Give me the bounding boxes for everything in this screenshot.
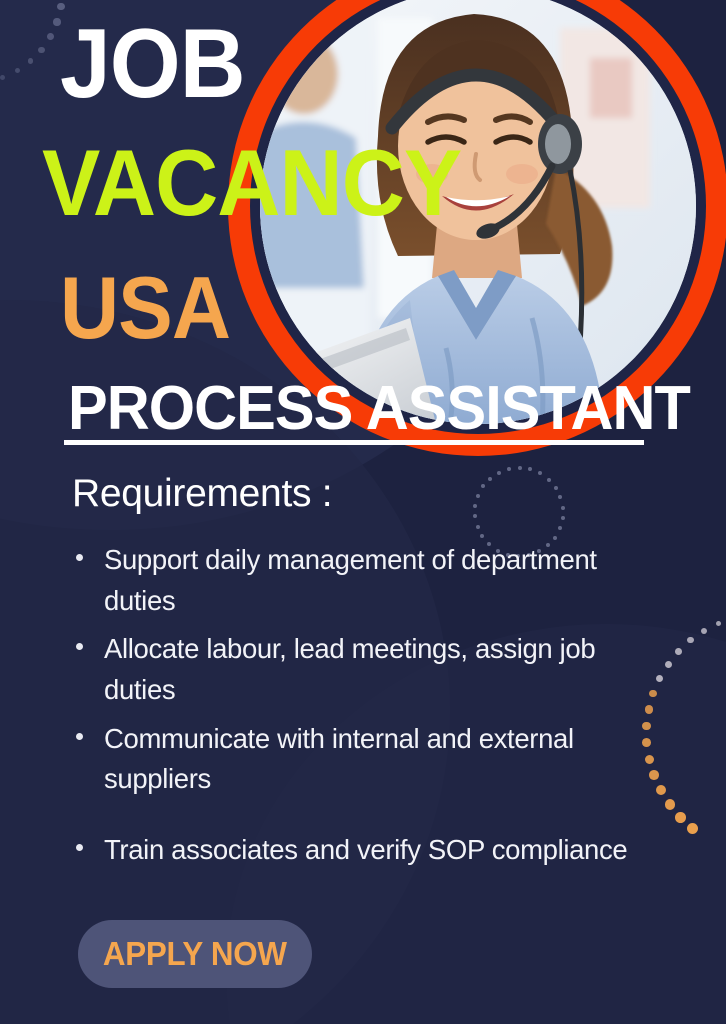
decorative-dot bbox=[558, 526, 562, 530]
decorative-dot bbox=[518, 466, 522, 470]
list-item-label: Train associates and verify SOP complian… bbox=[104, 834, 627, 865]
decorative-dot bbox=[687, 637, 693, 643]
decorative-dot bbox=[38, 47, 44, 53]
headline-job: JOB bbox=[60, 18, 245, 108]
decorative-dot bbox=[558, 495, 562, 499]
decorative-dot bbox=[47, 33, 54, 40]
decorative-dot bbox=[716, 621, 722, 627]
bullet-icon bbox=[76, 844, 83, 851]
decorative-dot bbox=[476, 525, 480, 529]
apply-now-label: APPLY NOW bbox=[103, 935, 287, 973]
list-item: Train associates and verify SOP complian… bbox=[70, 830, 650, 871]
decorative-dot bbox=[488, 477, 492, 481]
decorative-dot bbox=[476, 494, 480, 498]
decorative-dot bbox=[665, 799, 675, 809]
decorative-dot bbox=[538, 471, 542, 475]
role-underline bbox=[64, 440, 644, 445]
job-vacancy-poster: JOB VACANCY USA PROCESS ASSISTANT Requir… bbox=[0, 0, 726, 1024]
list-item-label: Support daily management of department d… bbox=[104, 544, 597, 616]
list-item-label: Communicate with internal and external s… bbox=[104, 723, 574, 795]
apply-now-button[interactable]: APPLY NOW bbox=[78, 920, 312, 988]
bullet-icon bbox=[76, 733, 83, 740]
decorative-dot bbox=[701, 628, 707, 634]
requirements-list: Support daily management of department d… bbox=[70, 540, 650, 879]
decorative-dot bbox=[547, 478, 551, 482]
headline-usa: USA bbox=[60, 268, 230, 349]
list-item: Communicate with internal and external s… bbox=[70, 719, 650, 800]
decorative-dot bbox=[554, 486, 558, 490]
decorative-dot bbox=[473, 514, 477, 518]
decorative-dot bbox=[675, 812, 686, 823]
decorative-dot bbox=[497, 471, 501, 475]
bullet-icon bbox=[76, 554, 83, 561]
headline-role: PROCESS ASSISTANT bbox=[68, 378, 644, 440]
requirements-title: Requirements : bbox=[72, 472, 332, 516]
decorative-dot bbox=[561, 506, 565, 510]
decorative-dot bbox=[481, 484, 485, 488]
list-item: Allocate labour, lead meetings, assign j… bbox=[70, 629, 650, 710]
decorative-dot bbox=[480, 534, 484, 538]
decorative-dot bbox=[649, 770, 659, 780]
headline-role-wrap: PROCESS ASSISTANT bbox=[68, 378, 668, 440]
list-item-label: Allocate labour, lead meetings, assign j… bbox=[104, 633, 595, 705]
decorative-dot bbox=[507, 467, 511, 471]
bullet-icon bbox=[76, 643, 83, 650]
decorative-dot bbox=[561, 516, 565, 520]
headline-vacancy: VACANCY bbox=[42, 140, 461, 226]
list-item: Support daily management of department d… bbox=[70, 540, 650, 621]
decorative-dot bbox=[528, 467, 532, 471]
decorative-dot bbox=[675, 648, 682, 655]
decorative-dot bbox=[473, 504, 477, 508]
decorative-dot bbox=[665, 661, 672, 668]
decorative-dot bbox=[656, 785, 666, 795]
